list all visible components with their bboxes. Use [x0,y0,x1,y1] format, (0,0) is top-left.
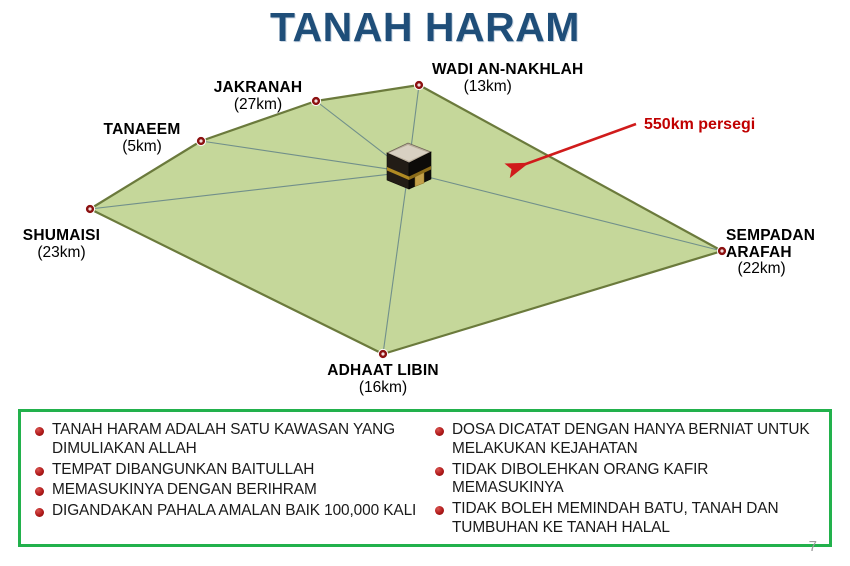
map-label-sempadan-name-line1: SEMPADAN [726,228,815,245]
list-item: MEMASUKINYA DENGAN BERIHRAM [35,481,419,500]
map-label-tanaeem-distance: (5km) [92,139,192,156]
map-label-tanaeem-name: TANAEEM [92,122,192,139]
fact-text: TIDAK BOLEH MEMINDAH BATU, TANAH DAN TUM… [452,500,819,538]
map-pin-marker-tanaeem[interactable] [196,136,205,145]
bullet-dot-icon [35,427,44,436]
map-pin-marker-adhaat[interactable] [378,349,387,358]
fact-text: DOSA DICATAT DENGAN HANYA BERNIAT UNTUK … [452,421,819,459]
list-item: TANAH HARAM ADALAH SATU KAWASAN YANG DIM… [35,421,419,459]
map-label-wadi-an-nakhlah: WADI AN-NAKHLAH (13km) [432,62,583,95]
map-label-tanaeem: TANAEEM (5km) [92,122,192,155]
kaaba-icon [381,139,435,195]
page-number: 7 [809,538,817,555]
map-label-adhaat-distance: (16km) [303,380,463,397]
map-label-sempadan-name-line2: ARAFAH [726,245,815,262]
map-label-wadi-name: WADI AN-NAKHLAH [432,62,583,79]
facts-column-right: DOSA DICATAT DENGAN HANYA BERNIAT UNTUK … [425,421,825,540]
map-label-shumaisi-name: SHUMAISI [4,228,119,245]
list-item: DIGANDAKAN PAHALA AMALAN BAIK 100,000 KA… [35,502,419,521]
map-pin-marker-shumaisi[interactable] [85,204,94,213]
map-label-sempadan-distance: (22km) [726,261,815,278]
bullet-dot-icon [435,506,444,515]
list-item: DOSA DICATAT DENGAN HANYA BERNIAT UNTUK … [435,421,819,459]
fact-text: DIGANDAKAN PAHALA AMALAN BAIK 100,000 KA… [52,502,416,521]
map-label-shumaisi-distance: (23km) [4,245,119,262]
area-annotation-label: 550km persegi [644,116,755,134]
bullet-dot-icon [435,427,444,436]
map-label-jakranah: JAKRANAH (27km) [203,80,313,113]
list-item: TIDAK BOLEH MEMINDAH BATU, TANAH DAN TUM… [435,500,819,538]
fact-text: TANAH HARAM ADALAH SATU KAWASAN YANG DIM… [52,421,419,459]
map-polygon-svg [0,0,850,400]
facts-column-left: TANAH HARAM ADALAH SATU KAWASAN YANG DIM… [25,421,425,540]
map-label-shumaisi: SHUMAISI (23km) [4,228,119,261]
list-item: TEMPAT DIBANGUNKAN BAITULLAH [35,461,419,480]
bullet-dot-icon [35,467,44,476]
map-label-jakranah-distance: (27km) [203,97,313,114]
map-label-adhaat-name: ADHAAT LIBIN [303,363,463,380]
bullet-dot-icon [35,487,44,496]
list-item: TIDAK DIBOLEHKAN ORANG KAFIR MEMASUKINYA [435,461,819,499]
map-pin-marker-wadi[interactable] [414,80,423,89]
map-label-jakranah-name: JAKRANAH [203,80,313,97]
map-label-adhaat-libin: ADHAAT LIBIN (16km) [303,363,463,396]
bullet-dot-icon [35,508,44,517]
map-label-sempadan-arafah: SEMPADAN ARAFAH (22km) [726,228,815,278]
fact-text: TEMPAT DIBANGUNKAN BAITULLAH [52,461,314,480]
facts-box: TANAH HARAM ADALAH SATU KAWASAN YANG DIM… [18,409,832,547]
tanah-haram-map: WADI AN-NAKHLAH (13km) JAKRANAH (27km) T… [0,0,850,400]
slide-canvas: TANAH HARAM [0,0,850,566]
bullet-dot-icon [435,467,444,476]
fact-text: MEMASUKINYA DENGAN BERIHRAM [52,481,317,500]
map-label-wadi-distance: (13km) [432,79,583,96]
fact-text: TIDAK DIBOLEHKAN ORANG KAFIR MEMASUKINYA [452,461,819,499]
